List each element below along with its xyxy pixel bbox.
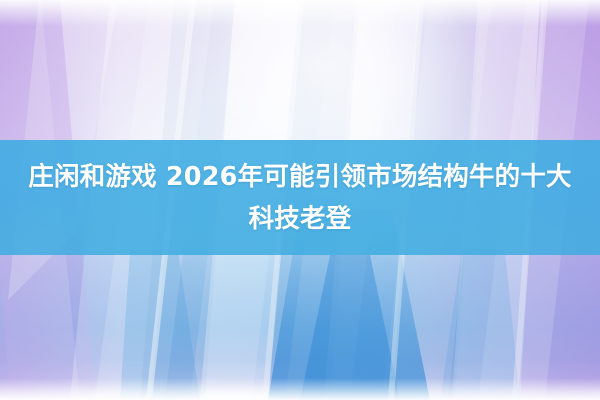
headline-band: 庄闲和游戏 2026年可能引领市场结构牛的十大科技老登 bbox=[0, 140, 600, 255]
top-fade-overlay bbox=[0, 0, 600, 26]
bottom-fade-overlay bbox=[0, 378, 600, 400]
banner-headline: 庄闲和游戏 2026年可能引领市场结构牛的十大科技老登 bbox=[20, 156, 580, 240]
promo-banner: 庄闲和游戏 2026年可能引领市场结构牛的十大科技老登 bbox=[0, 0, 600, 400]
